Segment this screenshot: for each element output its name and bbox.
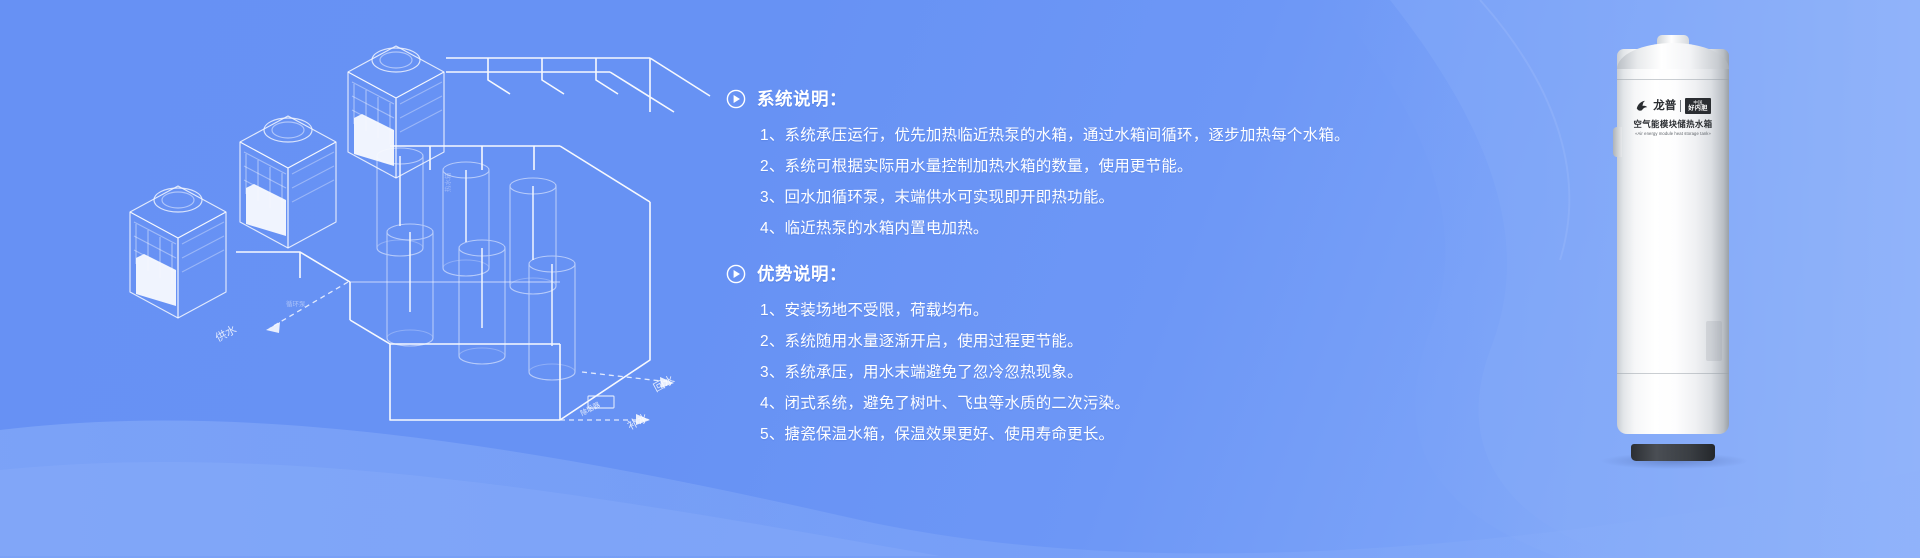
section-title: 系统说明： bbox=[757, 86, 847, 111]
list-item: 2、系统可根据实际用水量控制加热水箱的数量，使用更节能。 bbox=[760, 151, 1296, 182]
brand-divider bbox=[1680, 100, 1681, 112]
heat-pump-unit-2 bbox=[240, 116, 336, 248]
diagram-label-makeup: 补水 bbox=[625, 411, 651, 433]
badge-line-2: 好内胆 bbox=[1688, 105, 1707, 112]
section-advantage-description: 优势说明： 1、安装场地不受限，荷载均布。 2、系统随用水量逐渐开启，使用过程更… bbox=[726, 261, 1296, 450]
product-name-cn: 空气能模块储热水箱 bbox=[1623, 118, 1723, 130]
tank-top-dome bbox=[1617, 43, 1729, 69]
tank-side-port bbox=[1613, 127, 1622, 157]
water-tank-group bbox=[377, 148, 575, 380]
diagram-label-pump: 循环泵 bbox=[286, 299, 306, 308]
longpu-bird-logo-icon bbox=[1635, 99, 1649, 113]
section-item-list: 1、系统承压运行，优先加热临近热泵的水箱，通过水箱间循环，逐步加热每个水箱。 2… bbox=[726, 120, 1296, 244]
section-title: 优势说明： bbox=[757, 261, 847, 286]
quality-badge: 中国 好内胆 bbox=[1685, 98, 1710, 114]
section-item-list: 1、安装场地不受限，荷载均布。 2、系统随用水量逐渐开启，使用过程更节能。 3、… bbox=[726, 295, 1296, 450]
play-circle-icon bbox=[726, 264, 746, 284]
play-circle-icon bbox=[726, 89, 746, 109]
diagram-label-tank: 热水箱 bbox=[443, 172, 452, 192]
brand-name-text: 龙普 bbox=[1653, 99, 1676, 113]
pipe-network bbox=[236, 58, 710, 420]
section-spacer bbox=[726, 250, 1296, 261]
diagram-label-descaler: 除垢器 bbox=[579, 400, 602, 418]
list-item: 1、安装场地不受限，荷载均布。 bbox=[760, 295, 1296, 326]
flow-arrow-supply bbox=[270, 282, 348, 328]
section-header: 系统说明： bbox=[726, 86, 1296, 111]
tank-brand-label: 龙普 中国 好内胆 空气能模块储热水箱 «Air energy module h… bbox=[1623, 97, 1723, 136]
list-item: 4、闭式系统，避免了树叶、飞虫等水质的二次污染。 bbox=[760, 388, 1296, 419]
banner-copy-column: 系统说明： 1、系统承压运行，优先加热临近热泵的水箱，通过水箱间循环，逐步加热每… bbox=[726, 86, 1296, 456]
system-schematic-diagram: 供水 回水 补水 除垢器 循环泵 热水箱 bbox=[90, 20, 770, 480]
heat-pump-unit-1 bbox=[130, 186, 226, 318]
list-item: 3、回水加循环泵，末端供水可实现即开即热功能。 bbox=[760, 182, 1296, 213]
brand-lockup: 龙普 中国 好内胆 bbox=[1623, 97, 1723, 114]
list-item: 5、搪瓷保温水箱，保温效果更好、使用寿命更长。 bbox=[760, 419, 1296, 450]
product-image-water-tank: 龙普 中国 好内胆 空气能模块储热水箱 «Air energy module h… bbox=[1617, 35, 1729, 447]
list-item: 2、系统随用水量逐渐开启，使用过程更节能。 bbox=[760, 326, 1296, 357]
tank-seam-lower bbox=[1617, 373, 1729, 374]
list-item: 4、临近热泵的水箱内置电加热。 bbox=[760, 213, 1296, 244]
list-item: 3、系统承压，用水末端避免了忽冷忽热现象。 bbox=[760, 357, 1296, 388]
list-item: 1、系统承压运行，优先加热临近热泵的水箱，通过水箱间循环，逐步加热每个水箱。 bbox=[760, 120, 1296, 151]
tank-access-panel bbox=[1706, 321, 1722, 361]
section-system-description: 系统说明： 1、系统承压运行，优先加热临近热泵的水箱，通过水箱间循环，逐步加热每… bbox=[726, 86, 1296, 244]
product-name-en: «Air energy module heat storage tank» bbox=[1623, 131, 1723, 136]
tank-seam-upper bbox=[1617, 79, 1729, 80]
tank-base-foot bbox=[1631, 444, 1715, 461]
diagram-label-supply: 供水 bbox=[213, 322, 239, 345]
diagram-label-return: 回水 bbox=[651, 373, 677, 395]
section-header: 优势说明： bbox=[726, 261, 1296, 286]
